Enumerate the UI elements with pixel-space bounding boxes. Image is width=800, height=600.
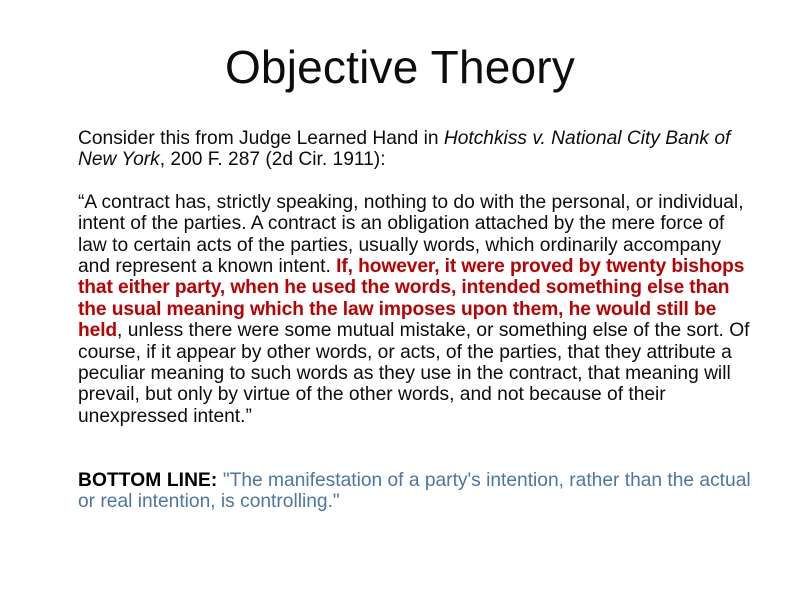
intro-lead-text: Consider this from Judge Learned Hand in: [78, 128, 444, 149]
slide-body: Consider this from Judge Learned Hand in…: [78, 128, 752, 512]
quotation-paragraph: “A contract has, strictly speaking, noth…: [78, 192, 752, 427]
intro-paragraph: Consider this from Judge Learned Hand in…: [78, 128, 752, 171]
page-title: Objective Theory: [0, 40, 800, 94]
case-citation-reference: , 200 F. 287 (2d Cir. 1911):: [160, 149, 386, 170]
quotation-part-two: , unless there were some mutual mistake,…: [78, 320, 749, 427]
paragraph-spacer: [78, 448, 752, 469]
slide: Objective Theory Consider this from Judg…: [0, 0, 800, 600]
bottom-line-label: BOTTOM LINE:: [78, 470, 223, 491]
bottom-line-paragraph: BOTTOM LINE: "The manifestation of a par…: [78, 470, 752, 513]
